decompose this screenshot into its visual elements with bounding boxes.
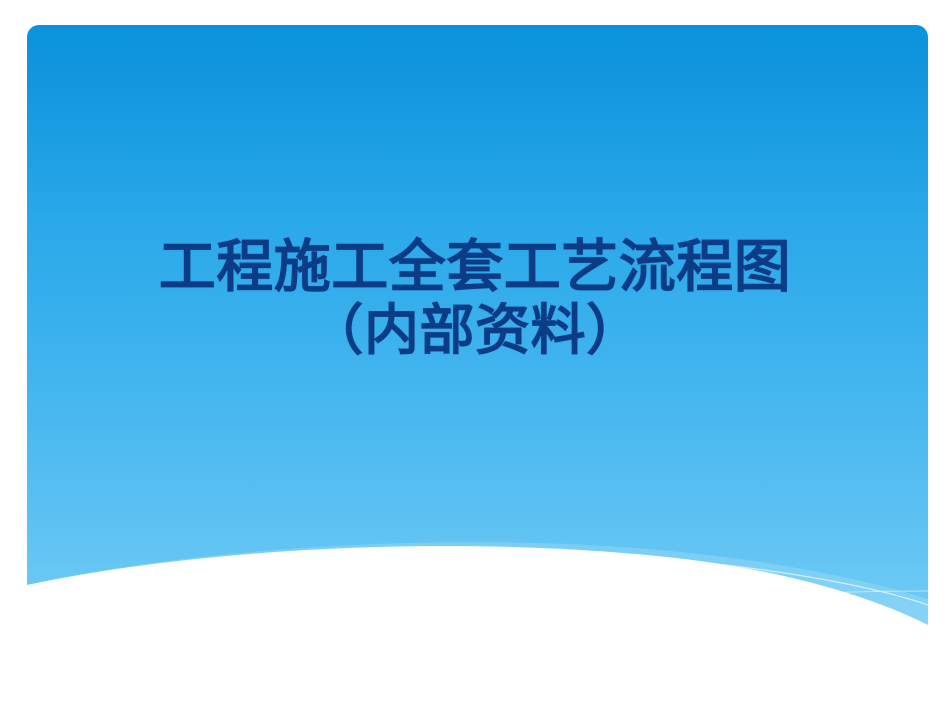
slide-canvas: 工程施工全套工艺流程图 （内部资料）	[0, 0, 950, 713]
title-line-primary: 工程施工全套工艺流程图	[0, 236, 950, 300]
slide-title: 工程施工全套工艺流程图 （内部资料）	[0, 236, 950, 361]
title-line-secondary: （内部资料）	[0, 300, 950, 362]
decorative-wave-group	[27, 25, 928, 713]
title-slide-panel	[27, 25, 928, 713]
